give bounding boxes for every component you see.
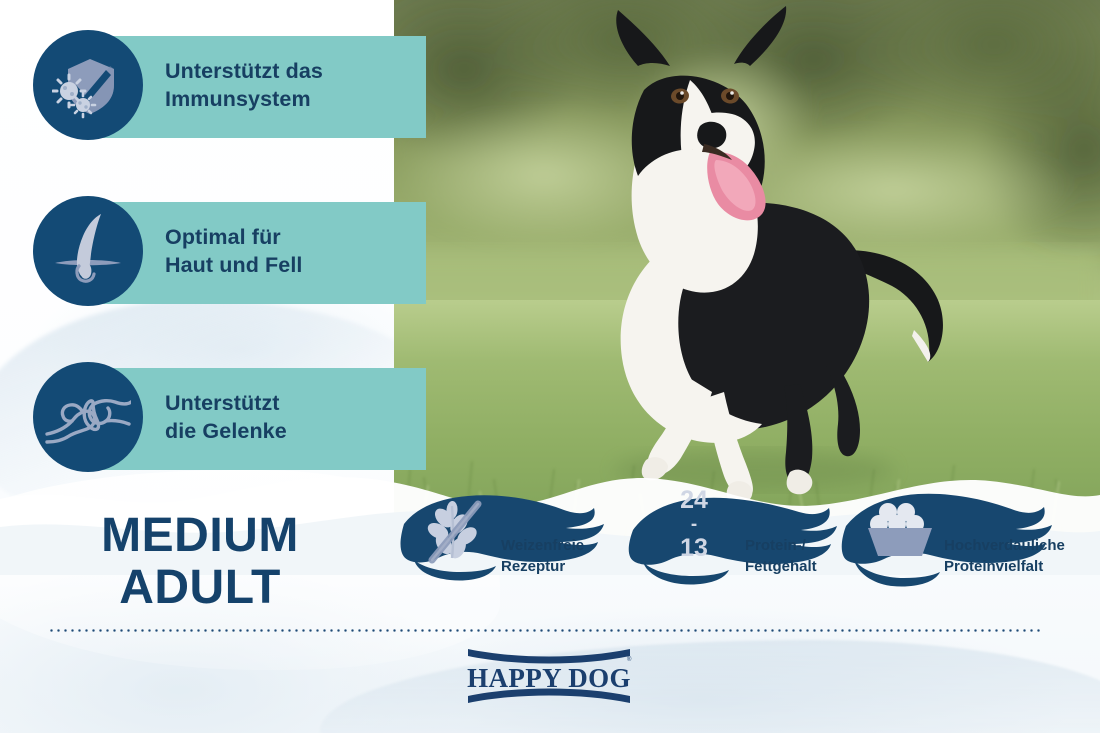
feature-label-line1: Protein-/ [745, 537, 806, 554]
feature-label-line2: Proteinvielfalt [944, 558, 1043, 575]
wheat-crossed-out-icon [422, 498, 492, 573]
benefit-label-immune: Unterstützt das Immunsystem [165, 57, 323, 114]
shield-check-virus-icon [33, 30, 143, 140]
feature-label-protein-variety: Hochverdauliche Proteinvielfalt [944, 536, 1065, 577]
protein-value-top: 24 [659, 488, 729, 513]
product-name-line1: MEDIUM [101, 509, 299, 562]
benefit-label-skin: Optimal für Haut und Fell [165, 223, 302, 280]
feature-label-line2: Fettgehalt [745, 558, 817, 575]
benefit-label-line2: die Gelenke [165, 419, 287, 443]
product-name: MEDIUM ADULT [60, 510, 340, 614]
dotted-divider [48, 629, 1043, 632]
feature-label-wheat-free: Weizenfreie Rezeptur [501, 536, 584, 577]
protein-fat-ratio-icon: 24 - 13 [659, 488, 729, 561]
joint-bone-icon [33, 362, 143, 472]
feature-protein-variety: Hochverdauliche Proteinvielfalt [838, 480, 1100, 600]
benefit-label-line1: Unterstützt das [165, 59, 323, 83]
product-feature-banner: Unterstützt das Immunsystem Optimal für … [0, 0, 1100, 733]
benefit-badge-joints: Unterstützt die Gelenke [33, 362, 287, 472]
logo-wordmark: HAPPY DOG [467, 663, 631, 693]
dog-bowl-kibble-icon [864, 498, 936, 563]
hair-follicle-icon [33, 196, 143, 306]
protein-value-bottom: 13 [659, 536, 729, 561]
protein-value-separator: - [659, 515, 729, 534]
benefit-label-line1: Unterstützt [165, 391, 280, 415]
feature-label-line1: Hochverdauliche [944, 537, 1065, 554]
logo-trademark-symbol: ® [627, 656, 632, 663]
benefit-label-line2: Haut und Fell [165, 253, 302, 277]
feature-label-line1: Weizenfreie [501, 537, 584, 554]
feature-label-line2: Rezeptur [501, 558, 565, 575]
benefit-badge-skin: Optimal für Haut und Fell [33, 196, 302, 306]
benefit-label-line1: Optimal für [165, 225, 281, 249]
benefit-badge-immune: Unterstützt das Immunsystem [33, 30, 323, 140]
feature-label-protein-fat: Protein-/ Fettgehalt [745, 536, 817, 577]
happy-dog-logo: HAPPY DOG ® [466, 648, 632, 704]
product-name-line2: ADULT [60, 562, 340, 614]
benefit-label-line2: Immunsystem [165, 87, 311, 111]
benefit-label-joints: Unterstützt die Gelenke [165, 389, 287, 446]
border-collie-running-on-grass-photo [394, 0, 1100, 546]
